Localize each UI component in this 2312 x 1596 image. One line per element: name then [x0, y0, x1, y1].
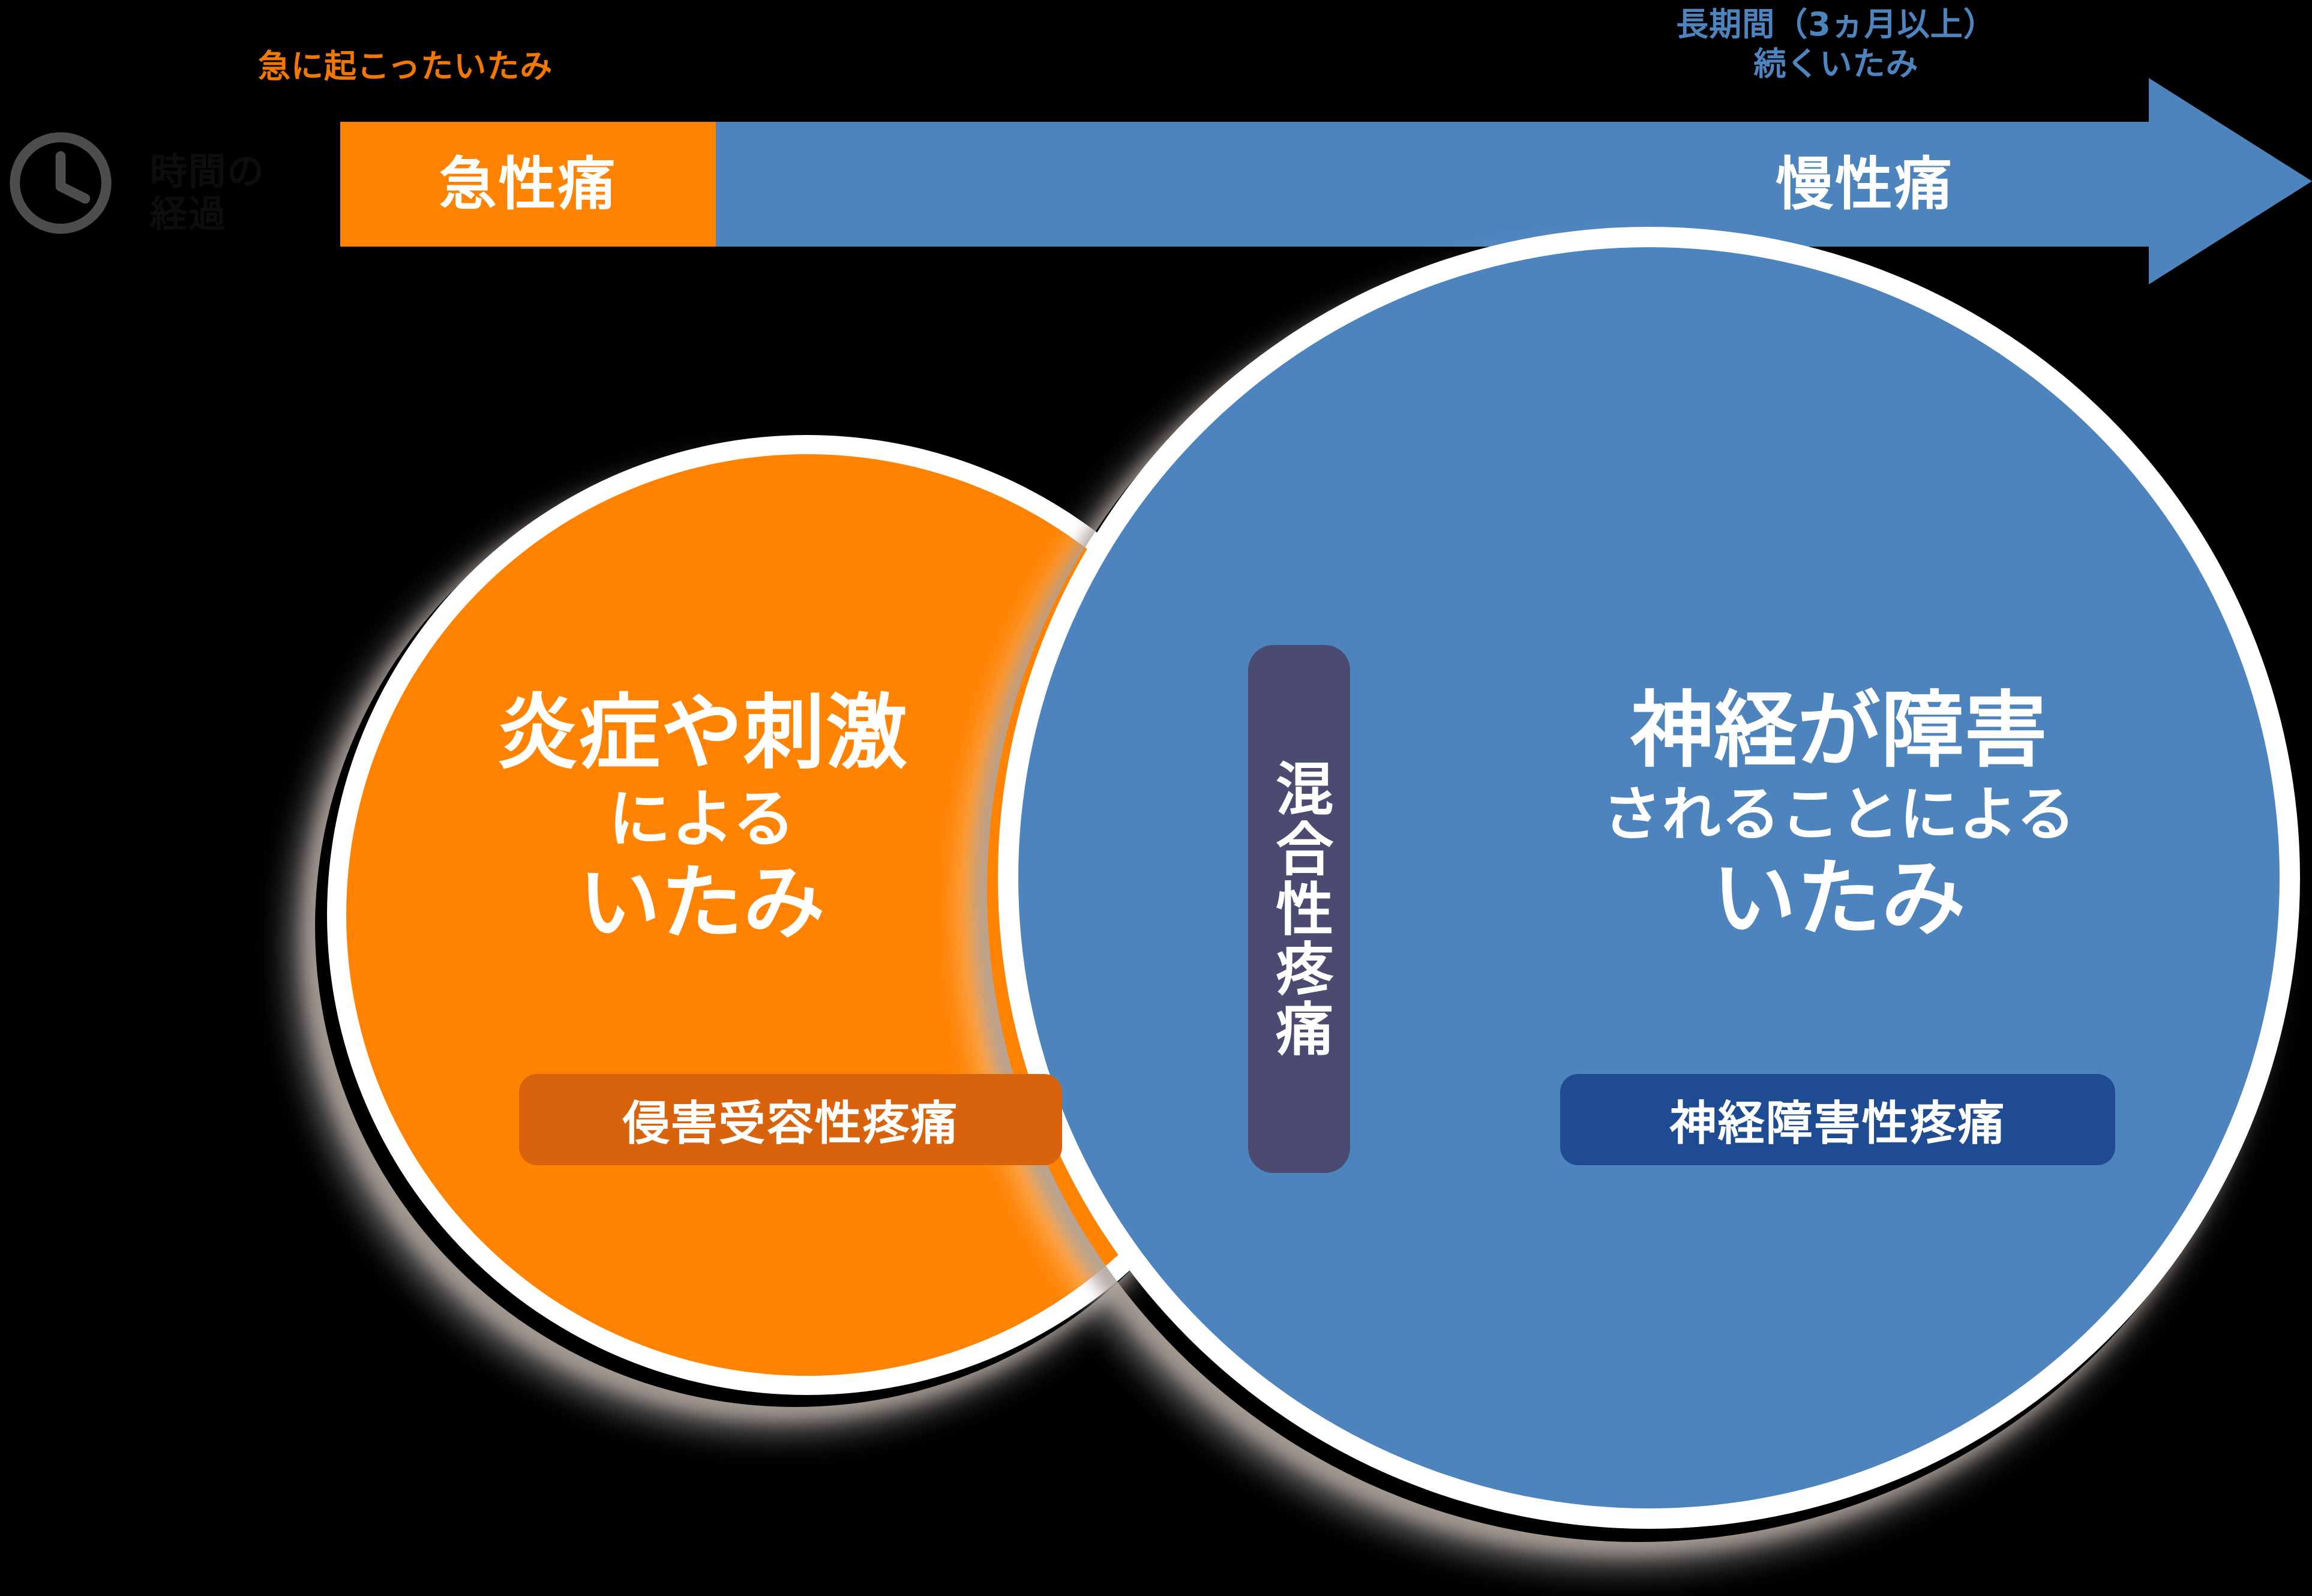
clock-icon	[5, 127, 116, 239]
timeline-segment-acute: 急性痛	[340, 122, 716, 247]
right-circle-heading: 神経が障害 されることによる いたみ	[1464, 687, 2214, 944]
timeline-segment-chronic: 慢性痛	[716, 122, 2152, 247]
right-circle-heading-line2: されることによる	[1464, 784, 2214, 847]
left-circle-term-badge: 侵害受容性疼痛	[519, 1074, 1062, 1165]
left-circle-heading-line1: 炎症や刺激	[384, 690, 1020, 776]
left-circle-heading-line2: による	[384, 786, 1020, 852]
timeline-note-chronic: 長期間（3ヵ月以上） 続くいたみ	[1656, 5, 2016, 84]
diagram-canvas: 時間の 経過 急性痛 慢性痛 急に起こったいたみ 長期間（3ヵ月以上） 続くいた…	[0, 0, 2312, 1596]
timeline-arrow-head-icon	[2149, 78, 2312, 284]
timeline-segment-chronic-label: 慢性痛	[1776, 155, 1954, 213]
right-circle-heading-line3: いたみ	[1464, 855, 2214, 944]
right-circle-term-badge: 神経障害性疼痛	[1560, 1074, 2115, 1165]
timeline-segment-acute-label: 急性痛	[439, 155, 617, 213]
left-circle-heading: 炎症や刺激 による いたみ	[384, 690, 1020, 947]
left-circle-heading-line3: いたみ	[384, 860, 1020, 947]
overlap-label-text: 混合性疼痛	[1267, 759, 1332, 1059]
venn-diagram: 炎症や刺激 による いたみ 神経が障害 されることによる いたみ 侵害受容性疼痛…	[0, 258, 2312, 1596]
time-axis-caption: 時間の 経過	[150, 150, 265, 236]
overlap-label-plate: 混合性疼痛	[1248, 645, 1350, 1173]
right-circle-heading-line1: 神経が障害	[1464, 687, 2214, 775]
timeline-note-acute: 急に起こったいたみ	[258, 47, 553, 86]
